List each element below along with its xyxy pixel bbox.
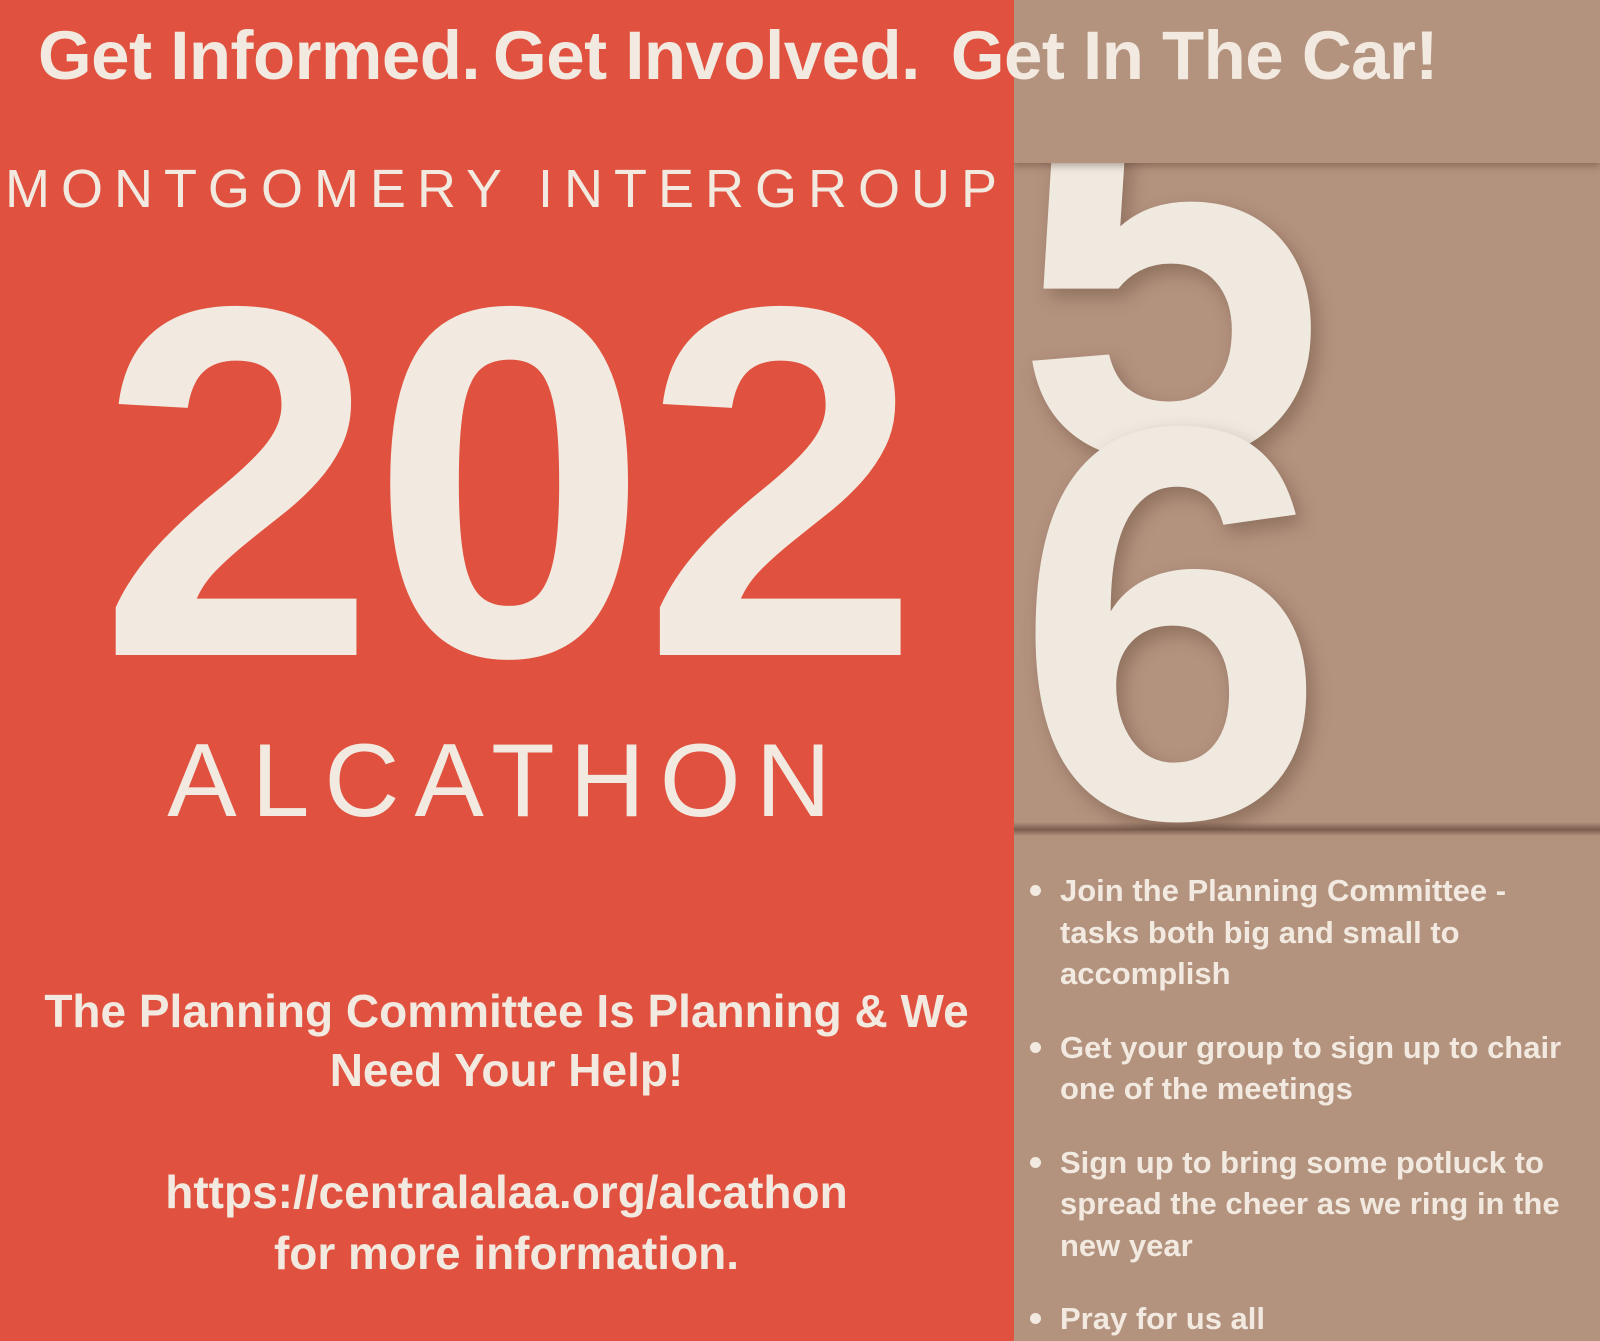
url-suffix: for more information. — [24, 1223, 989, 1284]
big-digit-6: 6 — [1015, 343, 1316, 830]
list-item: Sign up to bring some potluck to spread … — [1013, 1142, 1600, 1267]
list-item: Pray for us all — [1013, 1298, 1600, 1340]
alcathon-poster: 5 6 Get Informed. Get Involved. Get In T… — [0, 0, 1600, 1341]
bullet-dot-icon — [1030, 1313, 1041, 1324]
headline-part-2: Get Involved. — [480, 21, 920, 90]
year-digits-clip: 5 6 — [1013, 163, 1600, 830]
website-url[interactable]: https://centralalaa.org/alcathon for mor… — [24, 1162, 989, 1283]
list-item-label: Join the Planning Committee - tasks both… — [1060, 873, 1506, 991]
headline-part-3: Get In The Car! — [920, 21, 1438, 90]
list-item-label: Sign up to bring some potluck to spread … — [1060, 1145, 1560, 1263]
list-item-label: Pray for us all — [1060, 1301, 1265, 1336]
headline-part-1: Get Informed. — [0, 21, 480, 90]
list-item-label: Get your group to sign up to chair one o… — [1060, 1030, 1561, 1107]
list-item: Join the Planning Committee - tasks both… — [1013, 870, 1600, 995]
bullet-dot-icon — [1030, 1157, 1041, 1168]
panel-divider-sliver — [1003, 0, 1014, 1341]
headline: Get Informed. Get Involved. Get In The C… — [0, 0, 1600, 110]
event-name: ALCATHON — [0, 722, 1013, 841]
bullet-dot-icon — [1030, 885, 1041, 896]
url-link[interactable]: https://centralalaa.org/alcathon — [24, 1162, 989, 1223]
year-202: 202 — [0, 232, 1013, 732]
list-item: Get your group to sign up to chair one o… — [1013, 1027, 1600, 1110]
tagline: The Planning Committee Is Planning & We … — [24, 982, 989, 1100]
bullet-dot-icon — [1030, 1042, 1041, 1053]
action-items-list: Join the Planning Committee - tasks both… — [1013, 870, 1600, 1341]
